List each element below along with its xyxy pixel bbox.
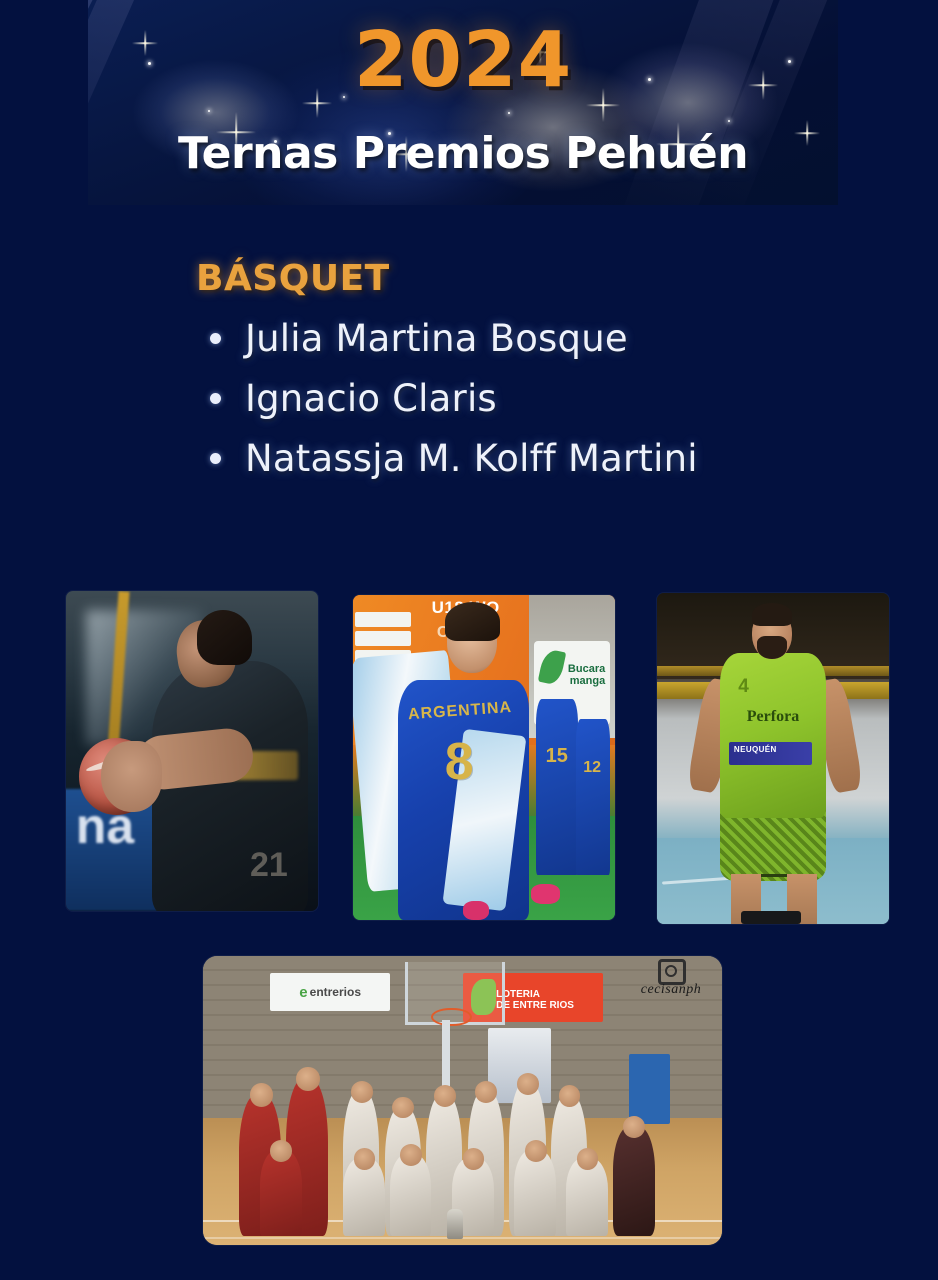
player-beard bbox=[757, 636, 787, 659]
trophy-icon bbox=[447, 1209, 463, 1239]
nominee-name: Natassja M. Kolff Martini bbox=[245, 437, 698, 480]
nominee-photo-3: 4 Perfora bbox=[657, 593, 889, 924]
sponsor-banner-right-text: LOTERIA DE ENTRE RIOS bbox=[496, 989, 574, 1011]
person-head bbox=[463, 1148, 485, 1170]
star-icon bbox=[508, 112, 510, 114]
jersey-sponsor bbox=[729, 742, 813, 765]
list-item: Julia Martina Bosque bbox=[210, 308, 698, 368]
nominee-name: Julia Martina Bosque bbox=[245, 317, 628, 360]
shoe bbox=[463, 901, 489, 921]
person-head bbox=[400, 1144, 422, 1166]
person-head bbox=[577, 1148, 599, 1170]
person-head bbox=[354, 1148, 376, 1170]
sponsor-logo bbox=[355, 612, 410, 628]
nominee-list: Julia Martina Bosque Ignacio Claris Nata… bbox=[210, 308, 698, 488]
list-item: Ignacio Claris bbox=[210, 368, 698, 428]
player-hair bbox=[197, 610, 252, 664]
category-title: BÁSQUET bbox=[196, 258, 390, 299]
person bbox=[343, 1158, 385, 1237]
person-head bbox=[351, 1081, 373, 1103]
photo-4-scene: e entrerios LOTERIA DE ENTRE RIOS bbox=[203, 956, 722, 1245]
team-photo: e entrerios LOTERIA DE ENTRE RIOS bbox=[203, 956, 722, 1245]
photo-watermark: cecisanph bbox=[641, 982, 701, 998]
person-head bbox=[434, 1085, 456, 1107]
player-socks bbox=[741, 911, 801, 924]
person bbox=[390, 1154, 432, 1237]
player-hair bbox=[445, 602, 500, 641]
star-icon bbox=[728, 120, 730, 122]
shoe bbox=[531, 884, 560, 904]
star-icon bbox=[208, 110, 210, 112]
person-head bbox=[296, 1067, 319, 1091]
team-group bbox=[203, 1040, 722, 1237]
list-item: Natassja M. Kolff Martini bbox=[210, 428, 698, 488]
camera-icon bbox=[658, 959, 686, 985]
nominee-photo-2: U18 WO COLO ARGENTINA 8 bbox=[353, 595, 615, 920]
person bbox=[514, 1150, 556, 1236]
player-torso bbox=[720, 653, 827, 819]
person bbox=[260, 1150, 302, 1236]
teammate-1 bbox=[536, 699, 578, 875]
nominee-photo-1: 21 bbox=[66, 591, 318, 911]
bullet-icon bbox=[210, 333, 221, 344]
nominee-name: Ignacio Claris bbox=[245, 377, 497, 420]
sponsor-logo bbox=[355, 631, 410, 647]
person bbox=[613, 1126, 655, 1236]
person-head bbox=[517, 1073, 539, 1095]
banner-year: 2024 bbox=[88, 16, 838, 105]
club-name: Perfora bbox=[734, 709, 813, 725]
entrerios-logo-icon: e bbox=[299, 984, 307, 1001]
person-head bbox=[559, 1085, 581, 1107]
header-banner: 2024 Ternas Premios Pehuén bbox=[88, 0, 838, 205]
player-hair bbox=[752, 603, 791, 626]
banner-subtitle: Ternas Premios Pehuén bbox=[88, 128, 838, 179]
teammate-2 bbox=[576, 719, 610, 875]
person-head bbox=[250, 1083, 273, 1107]
player-hand bbox=[101, 741, 161, 811]
person bbox=[566, 1158, 608, 1237]
photo-3-scene: 4 Perfora bbox=[657, 593, 889, 924]
jersey-number: 21 bbox=[250, 846, 288, 885]
sponsor-banner-left-text: entrerios bbox=[310, 985, 361, 999]
sponsor-banner-left: e entrerios bbox=[270, 973, 389, 1011]
bullet-icon bbox=[210, 393, 221, 404]
person-head bbox=[525, 1140, 547, 1162]
photo-1-scene: 21 bbox=[66, 591, 318, 911]
jersey-number: 8 bbox=[445, 732, 474, 792]
bullet-icon bbox=[210, 453, 221, 464]
jersey-number: 4 bbox=[738, 676, 749, 698]
person-head bbox=[475, 1081, 497, 1103]
person-head bbox=[270, 1140, 292, 1162]
photo-2-scene: U18 WO COLO ARGENTINA 8 bbox=[353, 595, 615, 920]
